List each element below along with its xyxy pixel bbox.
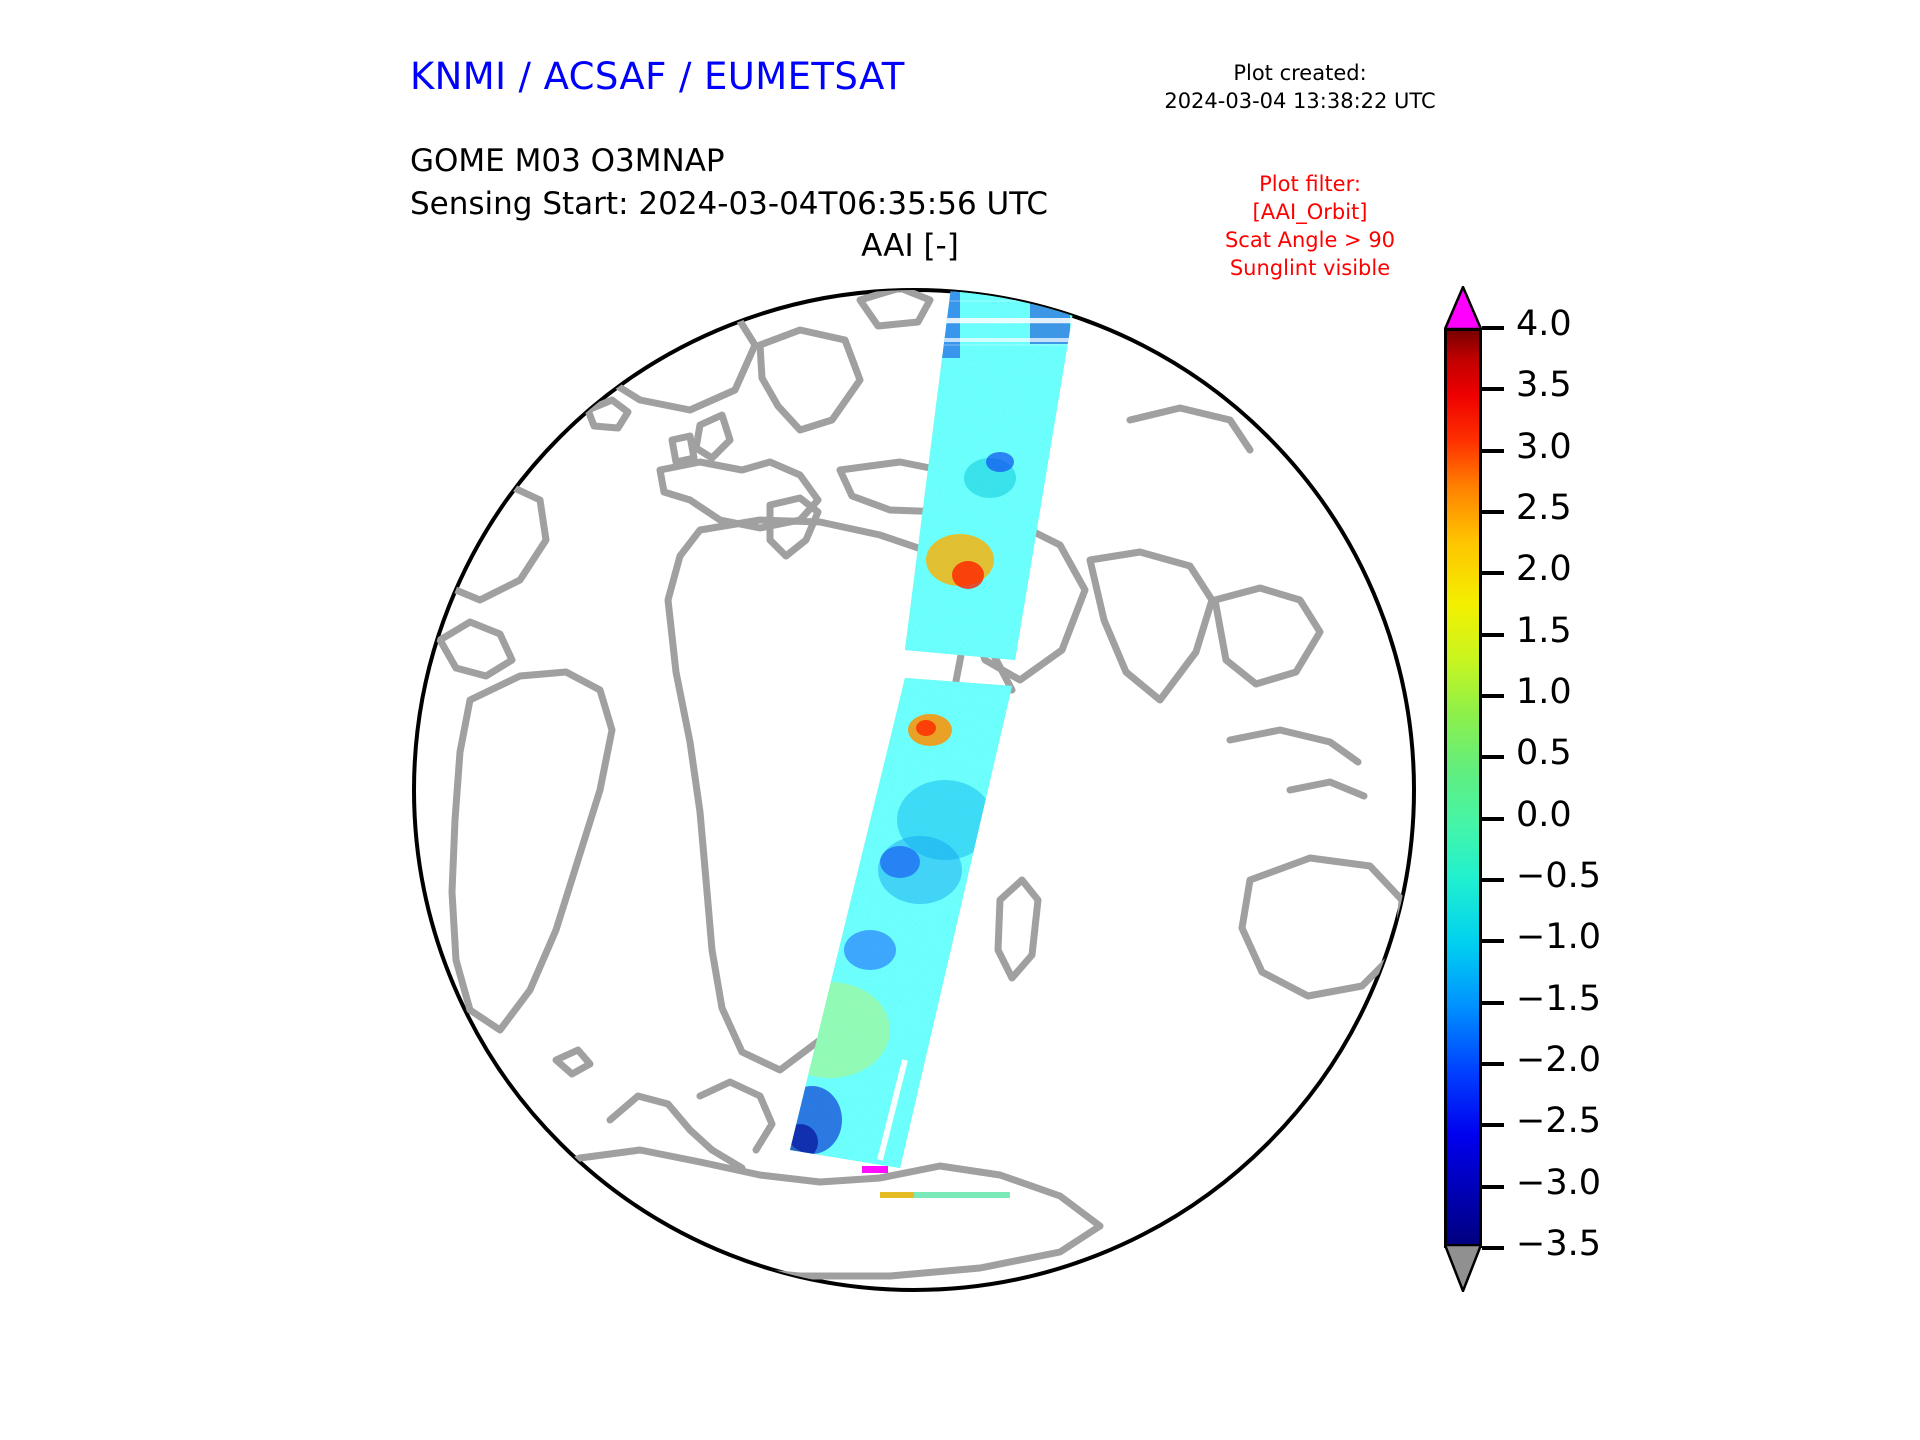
colorbar-ticks: 4.0 3.5 3.0 2.5 2.0 1.5 1.0 0.5 0.0 −0.5…: [1482, 328, 1722, 1248]
colorbar-gradient: [1444, 328, 1482, 1248]
colorbar-over-arrow: [1444, 286, 1482, 330]
colorbar: 4.0 3.5 3.0 2.5 2.0 1.5 1.0 0.5 0.0 −0.5…: [1432, 278, 1492, 1298]
colorbar-under-arrow: [1444, 1244, 1482, 1292]
